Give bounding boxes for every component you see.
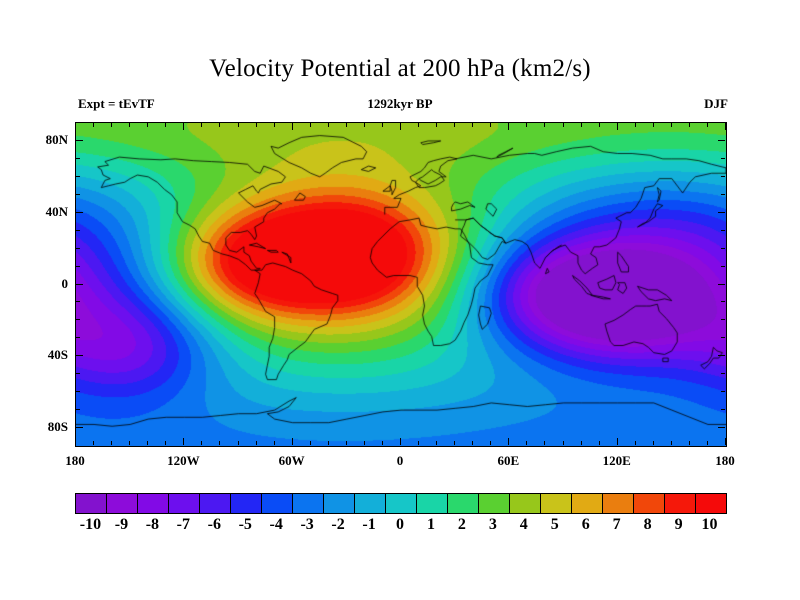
axis-tick (581, 441, 582, 445)
axis-tick (436, 441, 437, 445)
colorbar-cell (510, 494, 541, 513)
axis-tick (707, 441, 708, 445)
axis-tick (76, 337, 80, 338)
colorbar-cell (417, 494, 448, 513)
axis-tick (544, 441, 545, 445)
axis-tick (508, 438, 509, 445)
axis-tick (725, 438, 726, 445)
axis-tick (526, 441, 527, 445)
colorbar-cell (200, 494, 231, 513)
page-title: Velocity Potential at 200 hPa (km2/s) (0, 55, 800, 83)
x-axis-tick-label: 120W (148, 453, 218, 469)
axis-tick (328, 123, 329, 127)
colorbar-cell (479, 494, 510, 513)
axis-tick (274, 441, 275, 445)
colorbar-cell (572, 494, 603, 513)
axis-tick (563, 123, 564, 127)
axis-tick (346, 441, 347, 445)
axis-tick (472, 123, 473, 127)
colorbar-cell (448, 494, 479, 513)
velocity-potential-map (76, 123, 726, 446)
figure-panel: Velocity Potential at 200 hPa (km2/s) 12… (0, 0, 800, 600)
axis-tick (76, 427, 83, 428)
axis-tick (76, 355, 83, 356)
colorbar-cell (169, 494, 200, 513)
colorbar-cell (386, 494, 417, 513)
axis-tick (129, 123, 130, 127)
y-axis-tick-label: 40S (8, 347, 68, 363)
axis-tick (76, 194, 80, 195)
axis-tick (111, 441, 112, 445)
axis-tick (635, 123, 636, 127)
axis-tick (617, 438, 618, 445)
axis-tick (721, 319, 725, 320)
axis-tick (219, 123, 220, 127)
experiment-label: Expt = tEvTF (78, 96, 155, 112)
season-label: DJF (704, 96, 728, 112)
colorbar-cell (665, 494, 696, 513)
axis-tick (346, 123, 347, 127)
axis-tick (93, 441, 94, 445)
axis-tick (76, 176, 80, 177)
axis-tick (721, 194, 725, 195)
axis-tick (400, 438, 401, 445)
axis-tick (75, 123, 76, 130)
axis-tick (599, 123, 600, 127)
axis-tick (725, 123, 726, 130)
axis-tick (256, 123, 257, 127)
axis-tick (508, 123, 509, 130)
y-axis-tick-label: 80S (8, 419, 68, 435)
y-axis-tick-label: 0 (8, 276, 68, 292)
axis-tick (718, 140, 725, 141)
axis-tick (671, 123, 672, 127)
axis-tick (76, 230, 80, 231)
axis-tick (490, 123, 491, 127)
axis-tick (400, 123, 401, 130)
colorbar-cell (696, 494, 726, 513)
x-axis-tick-label: 60E (473, 453, 543, 469)
axis-tick (76, 158, 80, 159)
axis-tick (183, 123, 184, 130)
axis-tick (721, 158, 725, 159)
axis-tick (219, 441, 220, 445)
colorbar (75, 493, 727, 514)
colorbar-cell (324, 494, 355, 513)
axis-tick (617, 123, 618, 130)
x-axis-tick-label: 60W (257, 453, 327, 469)
axis-tick (721, 337, 725, 338)
axis-tick (671, 441, 672, 445)
axis-tick (721, 266, 725, 267)
axis-tick (454, 123, 455, 127)
axis-tick (76, 319, 80, 320)
axis-tick (707, 123, 708, 127)
axis-tick (76, 248, 80, 249)
x-axis-tick-label: 180 (40, 453, 110, 469)
axis-tick (76, 140, 83, 141)
x-axis-tick-label: 0 (365, 453, 435, 469)
x-axis-tick-label: 120E (582, 453, 652, 469)
axis-tick (147, 441, 148, 445)
y-axis-tick-label: 40N (8, 204, 68, 220)
axis-tick (653, 441, 654, 445)
axis-tick (718, 427, 725, 428)
axis-tick (201, 123, 202, 127)
axis-tick (76, 266, 80, 267)
axis-tick (454, 441, 455, 445)
colorbar-cell (541, 494, 572, 513)
axis-tick (165, 441, 166, 445)
axis-tick (310, 441, 311, 445)
axis-tick (689, 123, 690, 127)
colorbar-cell (293, 494, 324, 513)
axis-tick (76, 284, 83, 285)
colorbar-cell (603, 494, 634, 513)
axis-tick (599, 441, 600, 445)
axis-tick (418, 441, 419, 445)
axis-tick (292, 438, 293, 445)
axis-tick (76, 301, 80, 302)
colorbar-cell (107, 494, 138, 513)
axis-tick (76, 391, 80, 392)
axis-tick (490, 441, 491, 445)
axis-tick (256, 441, 257, 445)
axis-tick (364, 441, 365, 445)
axis-tick (718, 355, 725, 356)
axis-tick (76, 373, 80, 374)
axis-tick (201, 441, 202, 445)
axis-tick (689, 441, 690, 445)
y-axis-tick-label: 80N (8, 132, 68, 148)
axis-tick (721, 248, 725, 249)
axis-tick (75, 438, 76, 445)
axis-tick (418, 123, 419, 127)
axis-tick (526, 123, 527, 127)
colorbar-cell (231, 494, 262, 513)
axis-tick (274, 123, 275, 127)
axis-tick (563, 441, 564, 445)
colorbar-cell (634, 494, 665, 513)
axis-tick (292, 123, 293, 130)
axis-tick (382, 441, 383, 445)
axis-tick (76, 409, 80, 410)
axis-tick (721, 301, 725, 302)
axis-tick (111, 123, 112, 127)
axis-tick (129, 441, 130, 445)
axis-tick (238, 123, 239, 127)
axis-tick (183, 438, 184, 445)
axis-tick (718, 284, 725, 285)
axis-tick (165, 123, 166, 127)
axis-tick (721, 230, 725, 231)
colorbar-cell (138, 494, 169, 513)
colorbar-cell (262, 494, 293, 513)
axis-tick (635, 441, 636, 445)
axis-tick (93, 123, 94, 127)
colorbar-cell (76, 494, 107, 513)
axis-tick (472, 441, 473, 445)
colorbar-tick-label: 10 (690, 516, 730, 534)
colorbar-cell (355, 494, 386, 513)
axis-tick (721, 373, 725, 374)
axis-tick (436, 123, 437, 127)
axis-tick (581, 123, 582, 127)
axis-tick (328, 441, 329, 445)
axis-tick (382, 123, 383, 127)
x-axis-tick-label: 180 (690, 453, 760, 469)
axis-tick (310, 123, 311, 127)
axis-tick (718, 212, 725, 213)
axis-tick (238, 441, 239, 445)
axis-tick (721, 391, 725, 392)
axis-tick (364, 123, 365, 127)
axis-tick (544, 123, 545, 127)
axis-tick (721, 409, 725, 410)
axis-tick (653, 123, 654, 127)
axis-tick (147, 123, 148, 127)
axis-tick (721, 176, 725, 177)
map-plot-area (75, 122, 727, 447)
axis-tick (76, 212, 83, 213)
